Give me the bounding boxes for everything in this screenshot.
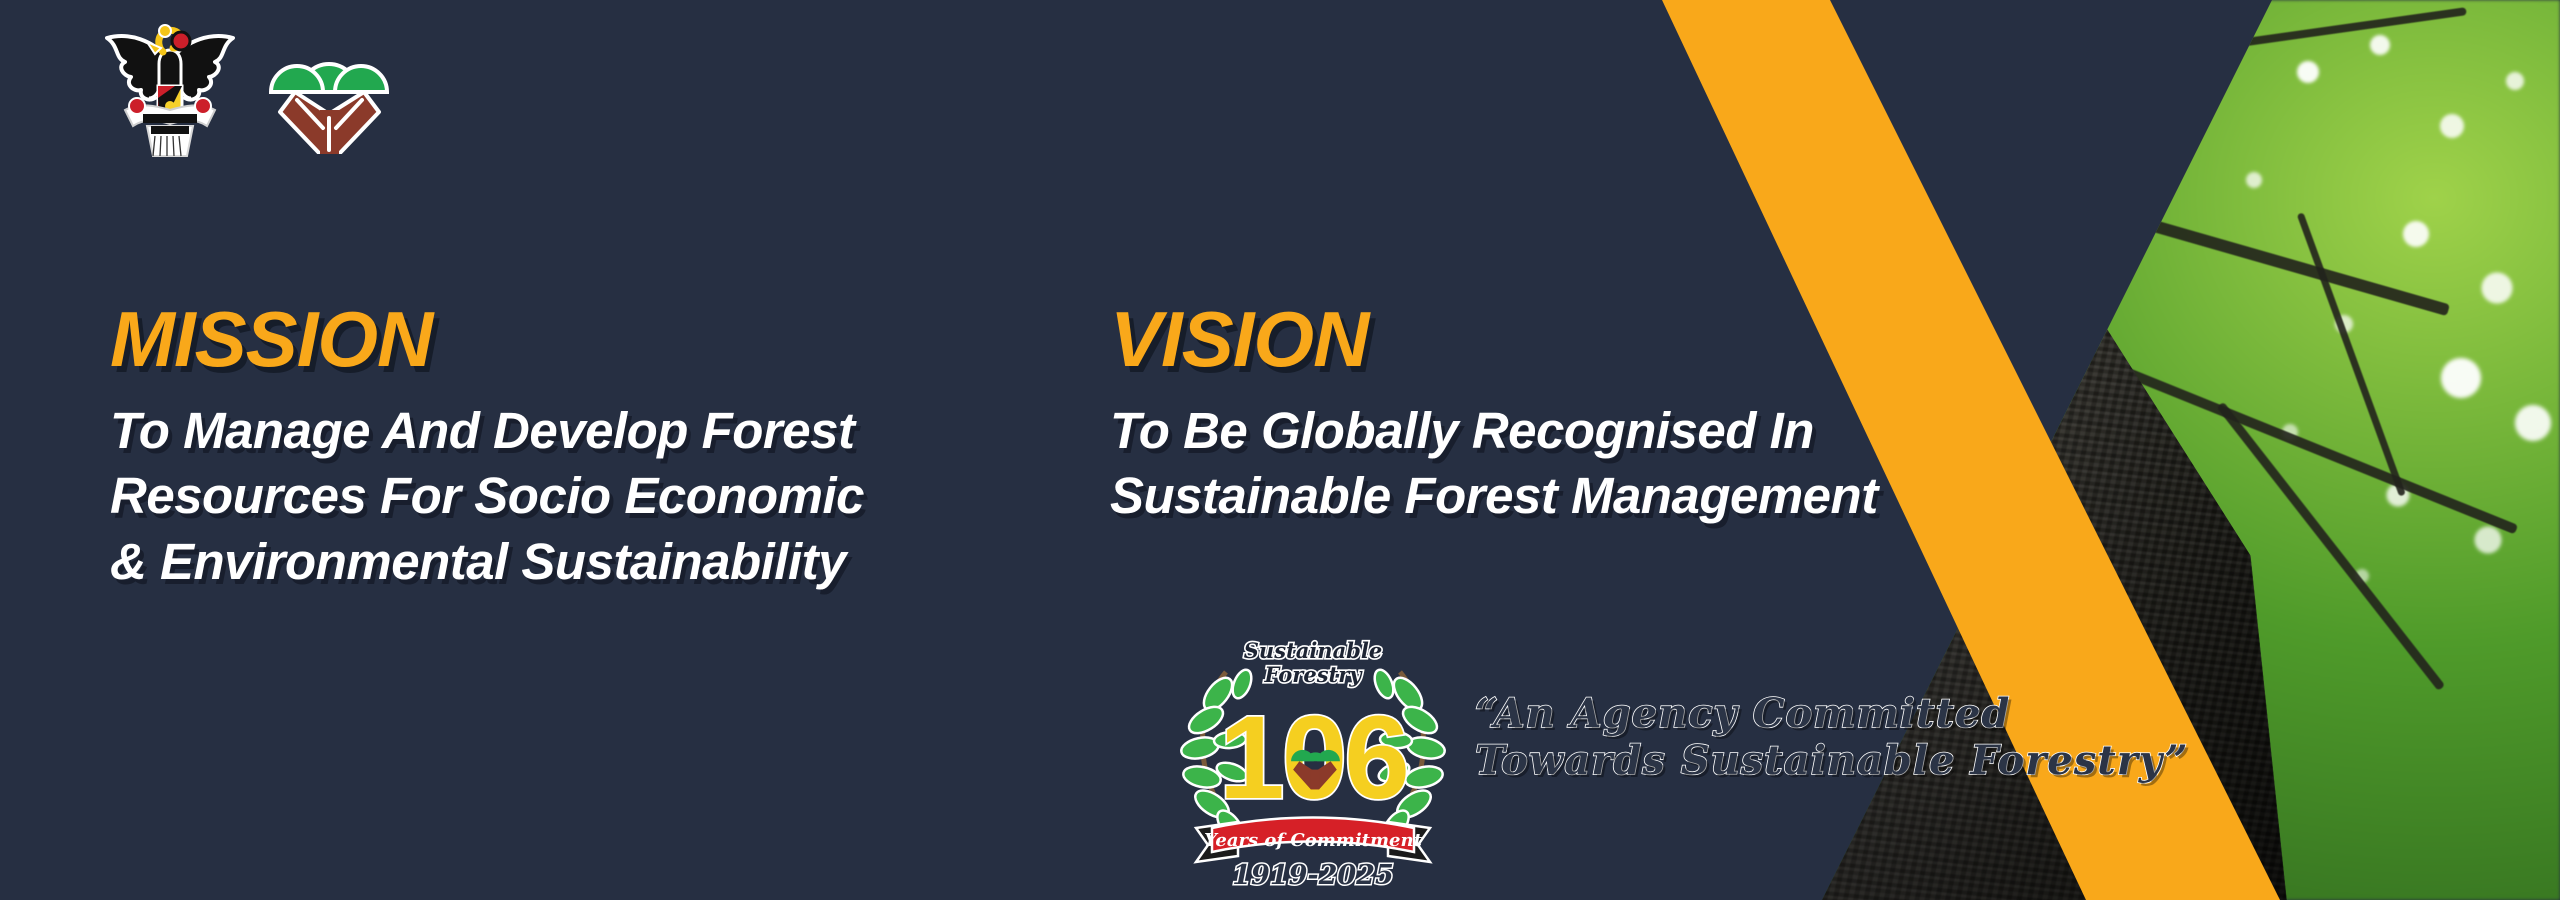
vision-line-1: To Be Globally Recognised In <box>1110 398 2110 463</box>
mission-line-3: & Environmental Sustainability <box>110 529 1010 594</box>
mission-text: To Manage And Develop Forest Resources F… <box>110 398 1010 594</box>
mission-line-1: To Manage And Develop Forest <box>110 398 1010 463</box>
mission-heading: MISSION <box>110 300 1010 378</box>
vision-heading: VISION <box>1110 300 2110 378</box>
mission-vision-banner: MISSION To Manage And Develop Forest Res… <box>0 0 2560 900</box>
forest-department-tree-logo-icon <box>267 14 392 154</box>
emblem-top-text-line2: Forestry <box>1264 662 1364 687</box>
sarawak-state-crest-icon <box>95 14 245 159</box>
mission-line-2: Resources For Socio Economic <box>110 463 1010 528</box>
emblem-years: 1919-2025 <box>1232 860 1394 891</box>
vision-text: To Be Globally Recognised In Sustainable… <box>1110 398 2110 529</box>
vision-line-2: Sustainable Forest Management <box>1110 463 2110 528</box>
emblem-top-text-line1: Sustainable <box>1244 638 1382 663</box>
tagline: “An Agency Committed Towards Sustainable… <box>1475 690 2095 784</box>
emblem-banner-text: Years of Commitment <box>1204 830 1422 851</box>
tagline-line-2: Towards Sustainable Forestry” <box>1475 737 2095 784</box>
mission-block: MISSION To Manage And Develop Forest Res… <box>110 300 1010 594</box>
tagline-line-1: “An Agency Committed <box>1475 690 2095 737</box>
vision-block: VISION To Be Globally Recognised In Sust… <box>1110 300 2110 529</box>
logo-row <box>95 14 392 159</box>
anniversary-106-emblem: Sustainable Forestry 106 Years of Commit… <box>1178 632 1448 894</box>
